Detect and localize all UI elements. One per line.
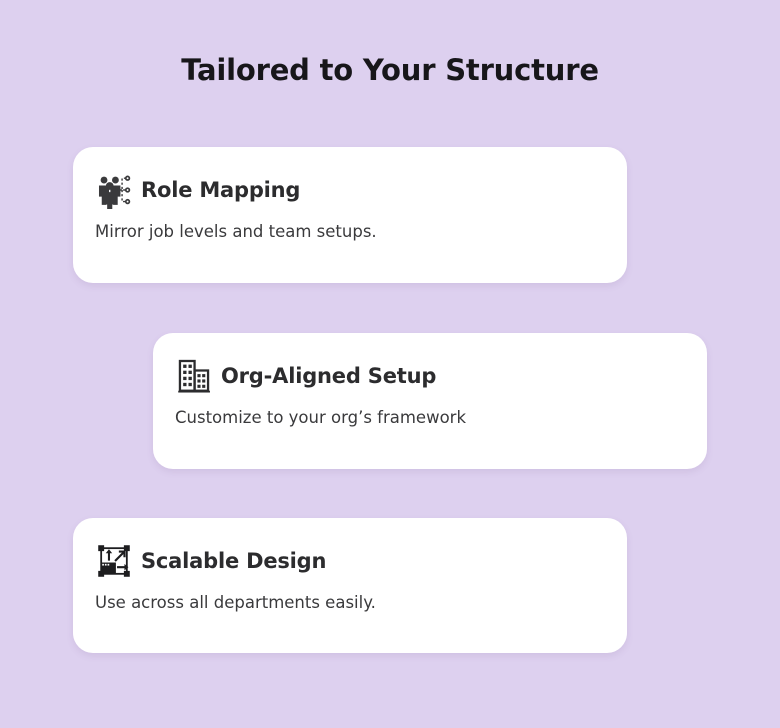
scale-resize-frame-icon (95, 542, 133, 580)
card-header: Role Mapping (95, 171, 300, 209)
card-description: Mirror job levels and team setups. (95, 222, 377, 241)
card-description: Use across all departments easily. (95, 593, 376, 612)
office-buildings-icon (175, 357, 213, 395)
feature-cards-page: Tailored to Your Structure (0, 0, 780, 728)
card-header: Org-Aligned Setup (175, 357, 436, 395)
card-title: Scalable Design (141, 549, 326, 573)
feature-card-scalable-design[interactable]: Scalable Design Use across all departmen… (73, 518, 627, 653)
card-title: Role Mapping (141, 178, 300, 202)
feature-card-role-mapping[interactable]: Role Mapping Mirror job levels and team … (73, 147, 627, 283)
card-description: Customize to your org’s framework (175, 408, 466, 427)
card-header: Scalable Design (95, 542, 326, 580)
people-hierarchy-icon (95, 171, 133, 209)
feature-card-org-aligned-setup[interactable]: Org-Aligned Setup Customize to your org’… (153, 333, 707, 469)
page-title: Tailored to Your Structure (0, 53, 780, 87)
card-title: Org-Aligned Setup (221, 364, 436, 388)
